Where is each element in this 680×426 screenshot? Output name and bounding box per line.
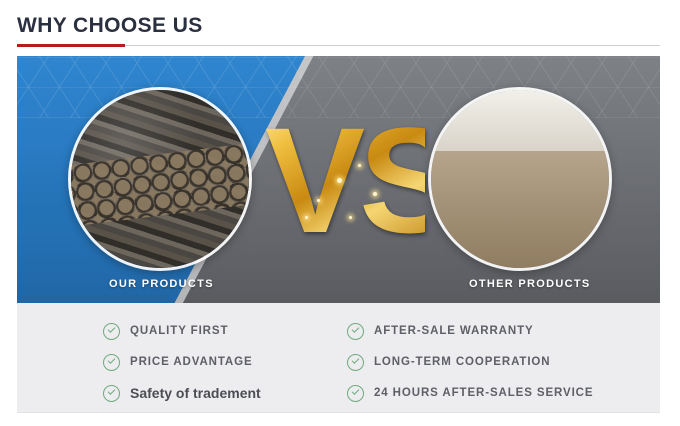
check-circle-icon <box>347 323 364 340</box>
title-underline <box>17 44 660 47</box>
title-underline-accent <box>17 44 125 47</box>
check-circle-icon <box>103 323 120 340</box>
other-products-image <box>428 87 612 271</box>
rusty-tan-pipes-photo <box>431 90 609 268</box>
feature-label: AFTER-SALE WARRANTY <box>374 325 534 337</box>
feature-label: QUALITY FIRST <box>130 325 228 337</box>
our-products-label: OUR PRODUCTS <box>109 278 214 290</box>
feature-item: AFTER-SALE WARRANTY <box>347 317 593 345</box>
feature-label: Safety of tradement <box>130 385 261 401</box>
check-circle-icon <box>103 354 120 371</box>
spark-icon <box>349 216 352 219</box>
feature-column-left: QUALITY FIRST PRICE ADVANTAGE Safety of … <box>103 317 261 410</box>
feature-item: QUALITY FIRST <box>103 317 261 345</box>
panel-bottom-edge <box>17 412 660 413</box>
page-title: WHY CHOOSE US <box>17 13 203 39</box>
check-circle-icon <box>347 354 364 371</box>
spark-icon <box>317 199 320 202</box>
feature-item: LONG-TERM COOPERATION <box>347 348 593 376</box>
feature-item: 24 HOURS AFTER-SALES SERVICE <box>347 379 593 407</box>
comparison-banner: VS OUR PRODUCTS OTHER PRODUCTS <box>17 56 660 303</box>
spark-icon <box>373 192 377 196</box>
other-products-label: OTHER PRODUCTS <box>469 278 590 290</box>
section-header: WHY CHOOSE US <box>0 0 680 52</box>
feature-item: PRICE ADVANTAGE <box>103 348 261 376</box>
versus-mark: VS <box>265 96 425 264</box>
feature-column-right: AFTER-SALE WARRANTY LONG-TERM COOPERATIO… <box>347 317 593 410</box>
why-choose-us-page: WHY CHOOSE US VS OUR PRODUCTS <box>0 0 680 426</box>
feature-item: Safety of tradement <box>103 379 261 407</box>
spark-icon <box>305 216 308 219</box>
spark-icon <box>358 164 361 167</box>
check-circle-icon <box>103 385 120 402</box>
feature-panel: QUALITY FIRST PRICE ADVANTAGE Safety of … <box>17 303 660 413</box>
check-circle-icon <box>347 385 364 402</box>
dark-steel-pipes-photo <box>71 90 249 268</box>
feature-label: PRICE ADVANTAGE <box>130 356 253 368</box>
feature-label: LONG-TERM COOPERATION <box>374 356 551 368</box>
our-products-image <box>68 87 252 271</box>
spark-icon <box>337 178 342 183</box>
feature-label: 24 HOURS AFTER-SALES SERVICE <box>374 387 593 399</box>
